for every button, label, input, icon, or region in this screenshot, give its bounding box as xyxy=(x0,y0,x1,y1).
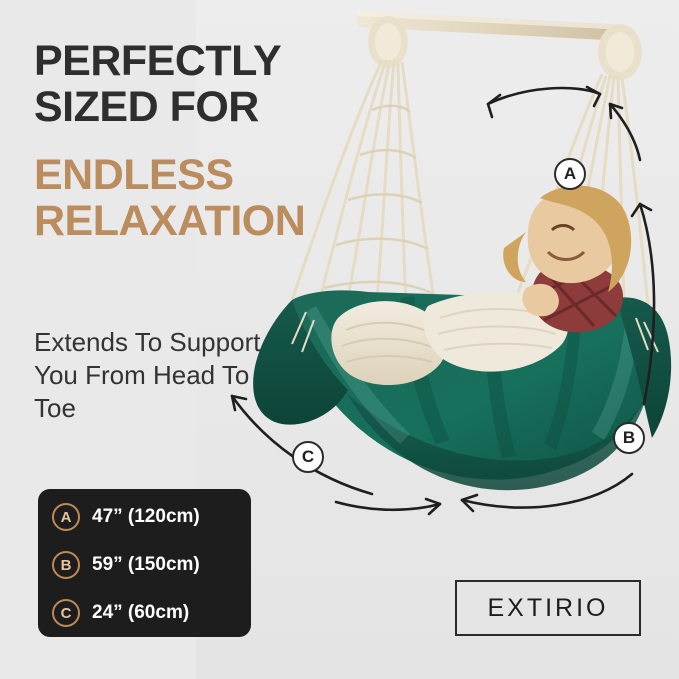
dimension-legend-card: A 47” (120cm) B 59” (150cm) C 24” (60cm) xyxy=(38,489,251,637)
headline-line-3: ENDLESS xyxy=(34,152,334,198)
legend-badge-a: A xyxy=(52,503,80,531)
subheadline: Extends To Support You From Head To Toe xyxy=(34,326,274,425)
marker-b: B xyxy=(613,422,645,454)
legend-text-b: 59” (150cm) xyxy=(92,554,200,576)
legend-row-a: A 47” (120cm) xyxy=(52,497,251,537)
marker-c: C xyxy=(292,441,324,473)
headline-line-2: SIZED FOR xyxy=(34,84,334,130)
legend-text-a: 47” (120cm) xyxy=(92,506,200,528)
poster-canvas: A B C PERFECTLY SIZED FOR ENDLESS RELAXA… xyxy=(0,0,679,679)
legend-badge-c: C xyxy=(52,599,80,627)
headline-block: PERFECTLY SIZED FOR ENDLESS RELAXATION xyxy=(34,38,334,244)
brand-logo: EXTIRIO xyxy=(455,580,641,636)
legend-row-b: B 59” (150cm) xyxy=(52,545,251,585)
headline-line-4: RELAXATION xyxy=(34,198,334,244)
legend-badge-b: B xyxy=(52,551,80,579)
marker-a: A xyxy=(554,158,586,190)
legend-row-c: C 24” (60cm) xyxy=(52,593,251,633)
brand-name: EXTIRIO xyxy=(487,594,608,623)
legend-text-c: 24” (60cm) xyxy=(92,602,189,624)
headline-line-1: PERFECTLY xyxy=(34,38,334,84)
